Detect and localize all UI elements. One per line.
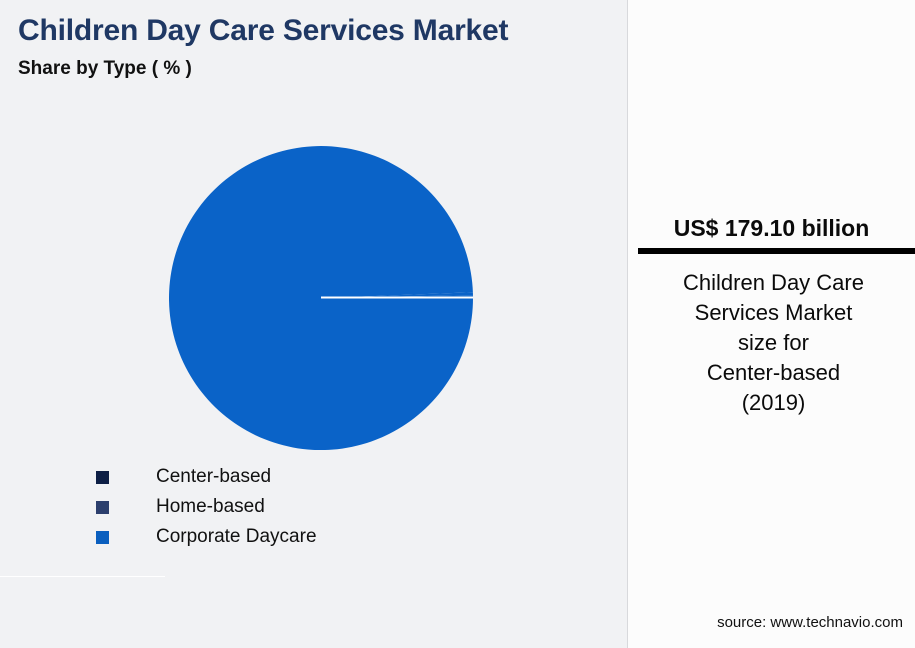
- callout-panel: US$ 179.10 billion Children Day Care Ser…: [627, 0, 915, 648]
- legend-item-corporate-daycare[interactable]: Corporate Daycare: [96, 522, 516, 552]
- callout-description-line: Services Market: [638, 298, 909, 328]
- callout-description-line: size for: [638, 328, 909, 358]
- divider: [0, 576, 165, 577]
- legend-swatch-icon: [96, 471, 109, 484]
- legend-item-home-based[interactable]: Home-based: [96, 492, 516, 522]
- chart-subtitle: Share by Type ( % ): [18, 58, 192, 80]
- legend-item-center-based[interactable]: Center-based: [96, 462, 516, 492]
- legend-swatch-icon: [96, 501, 109, 514]
- page-title: Children Day Care Services Market: [18, 14, 508, 48]
- chart-canvas: Children Day Care Services Market Share …: [0, 0, 915, 648]
- legend-label: Corporate Daycare: [156, 526, 317, 548]
- source-attribution: source: www.technavio.com: [717, 614, 903, 631]
- chart-legend: Center-based Home-based Corporate Daycar…: [96, 462, 516, 552]
- callout-description-line: (2019): [638, 388, 909, 418]
- chart-left-panel: Children Day Care Services Market Share …: [0, 0, 627, 648]
- legend-swatch-icon: [96, 531, 109, 544]
- callout-divider: [638, 248, 915, 254]
- callout-description-line: Center-based: [638, 358, 909, 388]
- callout-description: Children Day Care Services Market size f…: [638, 268, 909, 418]
- pie-chart-svg: [169, 146, 473, 450]
- pie-chart: [169, 146, 473, 450]
- callout-description-line: Children Day Care: [638, 268, 909, 298]
- legend-label: Center-based: [156, 466, 271, 488]
- legend-label: Home-based: [156, 496, 265, 518]
- callout-value: US$ 179.10 billion: [628, 215, 915, 242]
